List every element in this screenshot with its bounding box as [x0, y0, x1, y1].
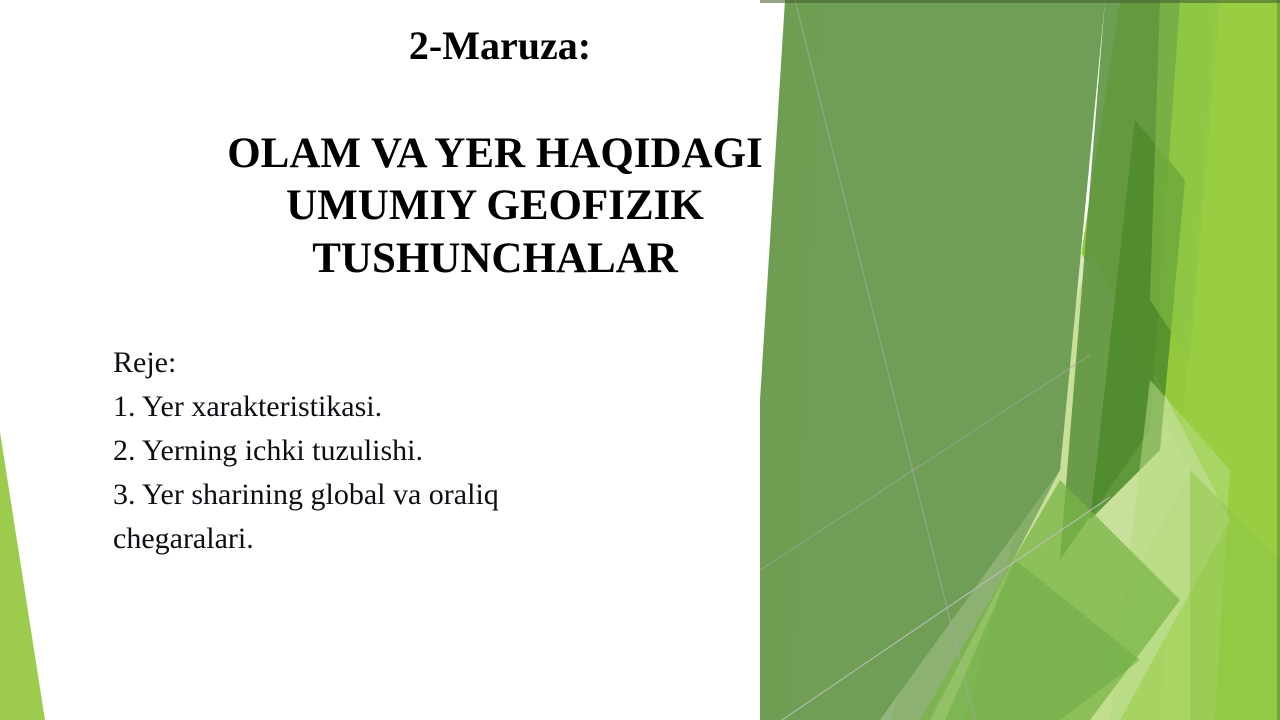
slide-heading-line-2: UMUMIY GEOFIZIK: [150, 180, 840, 232]
agenda-item-3-continued: chegaralari.: [113, 517, 880, 561]
slide-heading: OLAM VA YER HAQIDAGI UMUMIY GEOFIZIK TUS…: [110, 128, 880, 285]
presentation-slide: 2-Maruza: OLAM VA YER HAQIDAGI UMUMIY GE…: [0, 0, 1280, 720]
agenda-list: Reje: 1. Yer xarakteristikasi. 2. Yernin…: [110, 341, 880, 560]
agenda-item-3: 3. Yer sharining global va oraliq: [113, 473, 880, 517]
slide-heading-line-1: OLAM VA YER HAQIDAGI: [150, 128, 840, 180]
agenda-label: Reje:: [113, 341, 880, 385]
slide-text-block: 2-Maruza: OLAM VA YER HAQIDAGI UMUMIY GE…: [110, 24, 880, 560]
agenda-item-1: 1. Yer xarakteristikasi.: [113, 385, 880, 429]
slide-title: 2-Maruza:: [110, 24, 880, 68]
agenda-item-2: 2. Yerning ichki tuzulishi.: [113, 429, 880, 473]
slide-heading-line-3: TUSHUNCHALAR: [150, 233, 840, 285]
